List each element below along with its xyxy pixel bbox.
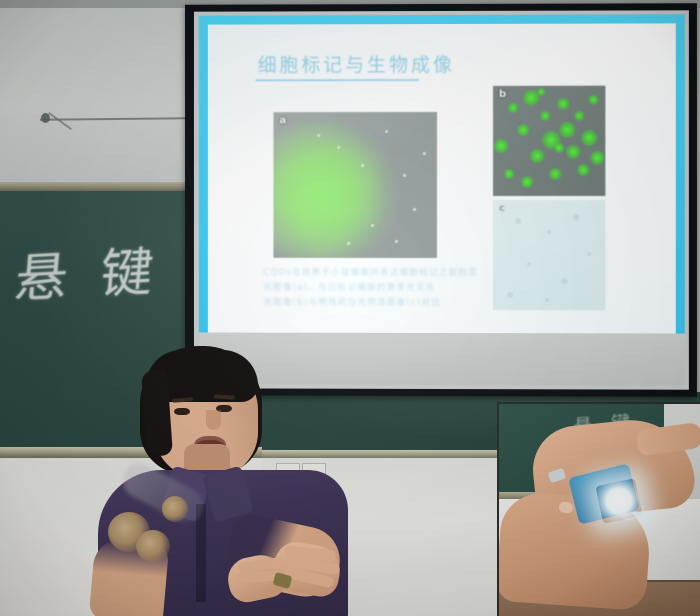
projection-screen-surface: 细胞标记与生物成像 a b c CQDs在培养于小鼠细胞内表达细胞标记之前的荧 … (194, 10, 689, 389)
panel-b-cell (504, 169, 514, 179)
panel-b-cell (549, 168, 561, 180)
presentation-slide: 细胞标记与生物成像 a b c CQDs在培养于小鼠细胞内表达细胞标记之前的荧 … (208, 23, 676, 334)
panel-b-cell (494, 139, 508, 153)
panel-a-speck (385, 130, 388, 133)
slide-caption-line-2: 光图像(a)、与已标记细胞的激发光荧光 (264, 281, 474, 296)
panel-b-cell (557, 98, 569, 110)
panel-b-cell (574, 111, 584, 121)
pointer-rod-tail-icon (48, 112, 72, 130)
panel-b-cell (588, 95, 598, 105)
screenshot-root: 悬 键 细胞标记与生物成像 a b (0, 0, 700, 616)
presenter-eye-left (174, 408, 190, 415)
slide-title-underline (256, 79, 419, 81)
panel-b-cell (577, 164, 589, 176)
panel-b-cell (554, 143, 564, 153)
projection-screen-frame: 细胞标记与生物成像 a b c CQDs在培养于小鼠细胞内表达细胞标记之前的荧 … (185, 3, 697, 397)
panel-b-cell (581, 130, 597, 146)
panel-c-dot (515, 218, 521, 224)
presenter (78, 344, 378, 616)
slide-caption-line-3: 光图像(b)与明场的白光明场图像(c)对比 (264, 296, 474, 311)
slide-panel-a: a (273, 112, 437, 258)
panel-a-speck (403, 174, 406, 177)
panel-a-label: a (279, 115, 286, 126)
panel-a-speck (395, 240, 398, 243)
panel-b-cell (508, 103, 518, 113)
panel-a-speck (347, 242, 350, 245)
panel-b-cell (566, 145, 580, 159)
panel-a-speck (361, 164, 364, 167)
slide-panel-c: c (493, 200, 605, 310)
presenter-shoulder-patch (136, 530, 170, 562)
panel-c-dot (527, 262, 531, 266)
presenter-shoulder-patch (162, 496, 188, 522)
panel-a-speck (413, 208, 416, 211)
slide-border: 细胞标记与生物成像 a b c CQDs在培养于小鼠细胞内表达细胞标记之前的荧 … (199, 14, 685, 343)
panel-c-dot (573, 214, 579, 220)
panel-b-cell (521, 176, 533, 188)
inset-light-glow (595, 478, 642, 523)
slide-caption-line-1: CQDs在培养于小鼠细胞内表达细胞标记之前的荧 (264, 266, 474, 281)
panel-b-cell (537, 88, 545, 96)
panel-b-cell (559, 122, 575, 138)
presenter-shirt-placket (196, 504, 206, 602)
panel-c-dot (561, 278, 567, 284)
panel-b-cell (590, 151, 604, 165)
slide-title: 细胞标记与生物成像 (258, 50, 455, 77)
panel-c-dot (547, 230, 551, 234)
panel-b-label: b (499, 89, 506, 100)
chalk-writing: 悬 键 (12, 229, 166, 312)
panel-b-cell (517, 124, 529, 136)
inset-video-panel[interactable]: 悬 键 (497, 402, 700, 616)
panel-c-label: c (499, 203, 505, 214)
presenter-nose (206, 410, 221, 430)
panel-c-dot (587, 252, 591, 256)
panel-a-speck (337, 146, 340, 149)
panel-c-dot (545, 298, 549, 302)
slide-panel-b: b (493, 86, 605, 196)
panel-c-dot (507, 292, 513, 298)
slide-caption: CQDs在培养于小鼠细胞内表达细胞标记之前的荧 光图像(a)、与已标记细胞的激发… (264, 266, 474, 311)
panel-a-speck (371, 224, 374, 227)
panel-a-speck (423, 152, 426, 155)
panel-b-cell (540, 111, 550, 121)
pointer-rod-icon (40, 117, 190, 121)
panel-b-cell (530, 149, 544, 163)
panel-a-speck (317, 134, 320, 137)
